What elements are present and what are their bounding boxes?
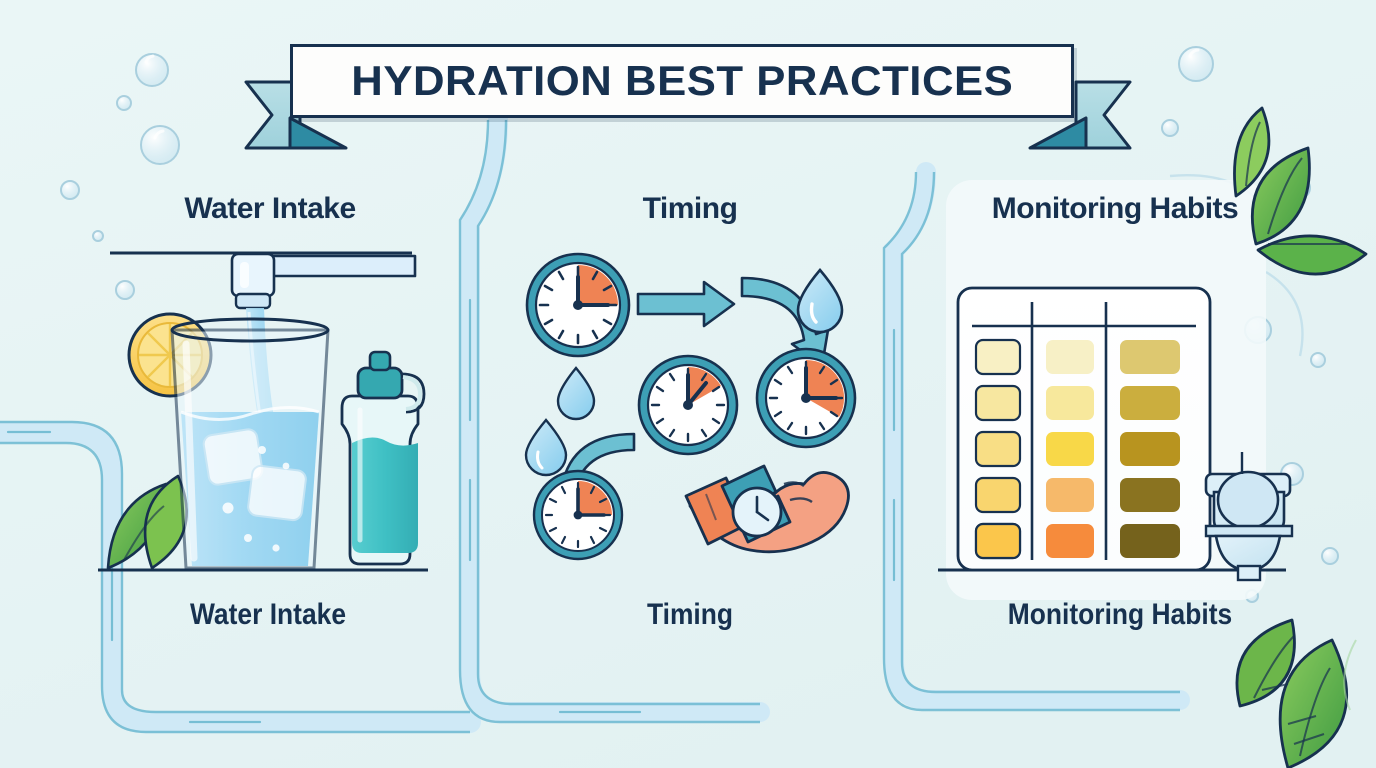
section-caption-water-intake: Water Intake	[92, 598, 444, 632]
section-header-monitoring-habits: Monitoring Habits	[930, 192, 1300, 226]
infographic-canvas: HYDRATION BEST PRACTICES Water Intake Ti…	[0, 0, 1376, 768]
swatch-column-1	[976, 340, 1020, 558]
clock-icon-3	[757, 349, 855, 447]
swatch-column-3	[1120, 340, 1180, 558]
swatch-column-2	[1046, 340, 1094, 558]
clock-icon-1	[527, 254, 629, 356]
hydration-color-chart-icon	[958, 288, 1210, 570]
section-header-water-intake: Water Intake	[80, 192, 460, 226]
clock-icon-2	[639, 356, 737, 454]
clock-icon-4	[534, 471, 622, 559]
section-caption-timing: Timing	[514, 598, 866, 632]
page-title-banner: HYDRATION BEST PRACTICES	[290, 44, 1074, 118]
page-title: HYDRATION BEST PRACTICES	[351, 57, 1013, 105]
water-glass-icon	[172, 319, 328, 568]
section-caption-monitoring-habits: Monitoring Habits	[944, 598, 1296, 632]
section-header-timing: Timing	[500, 192, 880, 226]
